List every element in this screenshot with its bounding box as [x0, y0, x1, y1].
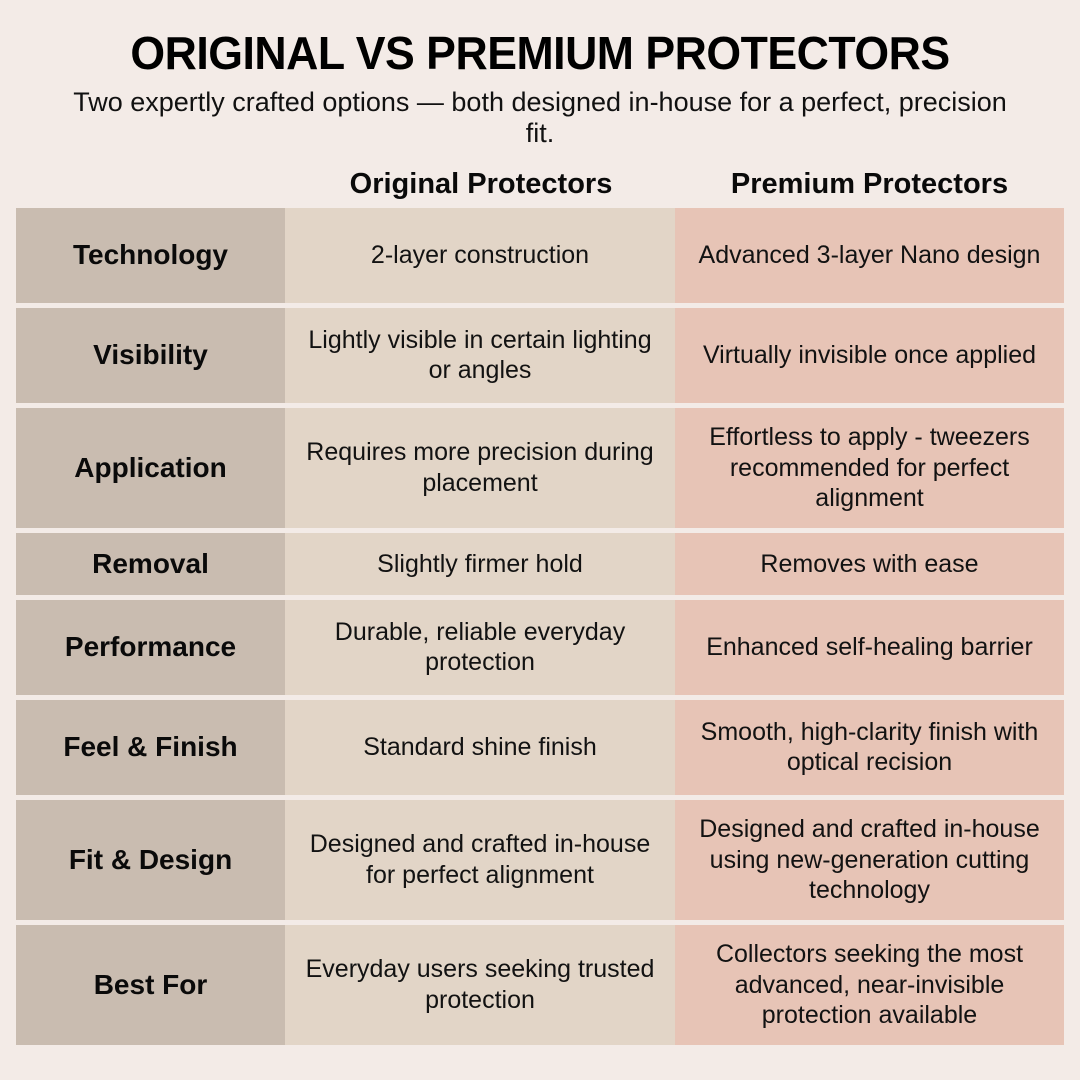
row-feature-label: Best For	[16, 925, 285, 1045]
table-row: Removal Slightly firmer hold Removes wit…	[16, 533, 1064, 595]
column-header-premium: Premium Protectors	[676, 167, 1063, 208]
row-premium-value: Advanced 3-layer Nano design	[675, 208, 1064, 303]
row-premium-value: Designed and crafted in-house using new-…	[675, 800, 1064, 920]
column-headers: Original Protectors Premium Protectors	[0, 167, 1080, 208]
row-original-value: 2-layer construction	[285, 208, 675, 303]
comparison-infographic: ORIGINAL VS PREMIUM PROTECTORS Two exper…	[0, 0, 1080, 1080]
row-original-value: Requires more precision during placement	[285, 408, 675, 528]
table-row: Performance Durable, reliable everyday p…	[16, 600, 1064, 695]
page-title: ORIGINAL VS PREMIUM PROTECTORS	[43, 30, 1036, 77]
row-feature-label: Fit & Design	[16, 800, 285, 920]
comparison-table: Technology 2-layer construction Advanced…	[16, 208, 1064, 1045]
row-premium-value: Smooth, high-clarity finish with optical…	[675, 700, 1064, 795]
row-feature-label: Feel & Finish	[16, 700, 285, 795]
row-feature-label: Application	[16, 408, 285, 528]
table-row: Best For Everyday users seeking trusted …	[16, 925, 1064, 1045]
table-row: Technology 2-layer construction Advanced…	[16, 208, 1064, 303]
row-premium-value: Collectors seeking the most advanced, ne…	[675, 925, 1064, 1045]
row-original-value: Durable, reliable everyday protection	[285, 600, 675, 695]
row-original-value: Designed and crafted in-house for perfec…	[285, 800, 675, 920]
row-original-value: Slightly firmer hold	[285, 533, 675, 595]
table-row: Feel & Finish Standard shine finish Smoo…	[16, 700, 1064, 795]
column-header-original: Original Protectors	[286, 167, 676, 208]
table-row: Fit & Design Designed and crafted in-hou…	[16, 800, 1064, 920]
row-premium-value: Removes with ease	[675, 533, 1064, 595]
row-feature-label: Performance	[16, 600, 285, 695]
column-header-feature	[17, 167, 286, 208]
row-feature-label: Technology	[16, 208, 285, 303]
column-header-premium-label: Premium Protectors	[676, 167, 1063, 208]
row-premium-value: Effortless to apply - tweezers recommend…	[675, 408, 1064, 528]
page-subtitle: Two expertly crafted options — both desi…	[60, 87, 1020, 149]
row-original-value: Standard shine finish	[285, 700, 675, 795]
table-row: Application Requires more precision duri…	[16, 408, 1064, 528]
header: ORIGINAL VS PREMIUM PROTECTORS Two exper…	[0, 0, 1080, 149]
row-feature-label: Visibility	[16, 308, 285, 403]
row-original-value: Everyday users seeking trusted protectio…	[285, 925, 675, 1045]
column-header-original-label: Original Protectors	[286, 167, 676, 208]
row-feature-label: Removal	[16, 533, 285, 595]
row-original-value: Lightly visible in certain lighting or a…	[285, 308, 675, 403]
table-row: Visibility Lightly visible in certain li…	[16, 308, 1064, 403]
row-premium-value: Enhanced self-healing barrier	[675, 600, 1064, 695]
row-premium-value: Virtually invisible once applied	[675, 308, 1064, 403]
